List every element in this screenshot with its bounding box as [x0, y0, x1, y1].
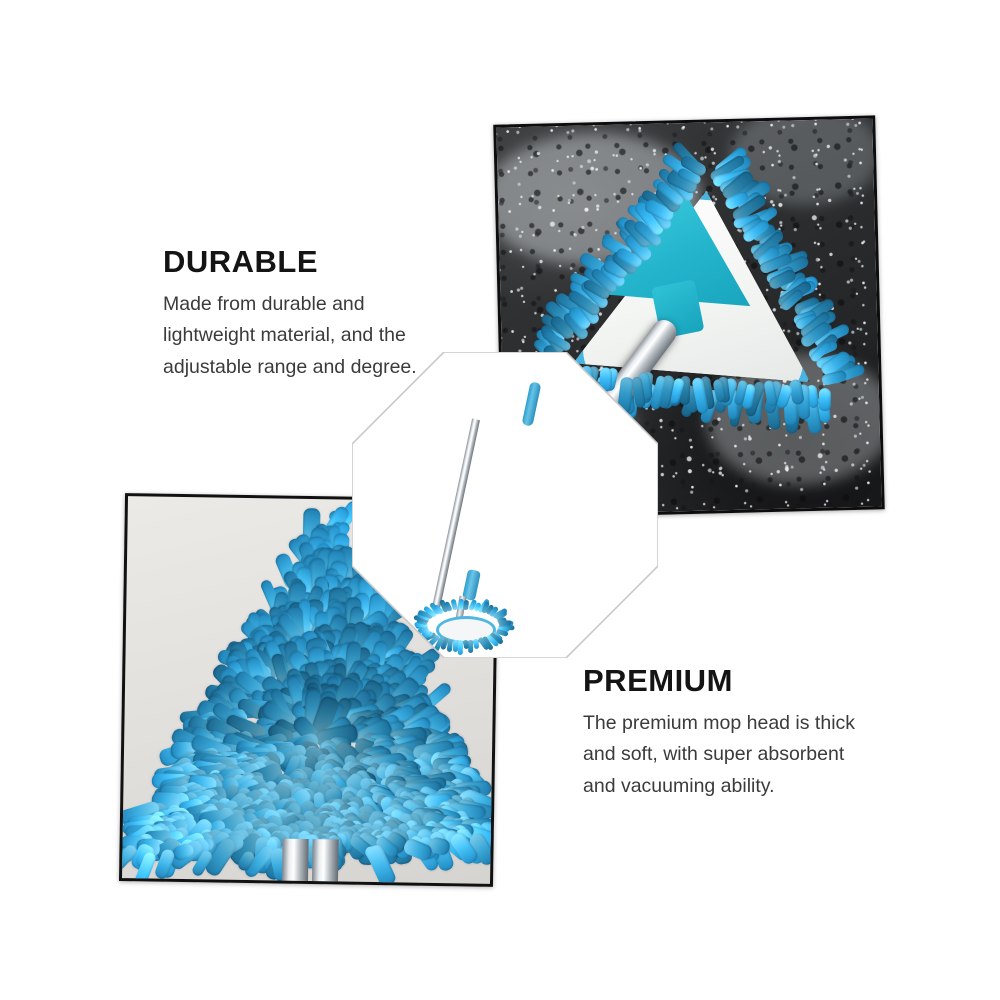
chenille-noodle — [473, 639, 479, 650]
feature-title-durable: DURABLE — [163, 246, 463, 279]
chenille-noodle — [453, 640, 458, 652]
octagon-callout-panel — [352, 352, 658, 658]
chenille-noodle — [458, 640, 463, 655]
feature-block-durable: DURABLE Made from durable and lightweigh… — [163, 246, 463, 383]
feature-body-durable: Made from durable and lightweight materi… — [163, 289, 463, 384]
feature-title-premium: PREMIUM — [583, 665, 883, 698]
full-mop-product-illustration — [352, 352, 658, 658]
chenille-noodle — [819, 388, 831, 411]
chenille-noodle — [463, 640, 469, 650]
feature-body-premium: The premium mop head is thick and soft, … — [583, 708, 883, 803]
chenille-noodle — [499, 620, 512, 625]
feature-block-premium: PREMIUM The premium mop head is thick an… — [583, 665, 883, 802]
mop-hand-grip — [522, 381, 542, 426]
chrome-pole-segment — [312, 839, 339, 881]
infographic-canvas: DURABLE Made from durable and lightweigh… — [0, 0, 1000, 1000]
chrome-pole-segment — [282, 839, 309, 881]
